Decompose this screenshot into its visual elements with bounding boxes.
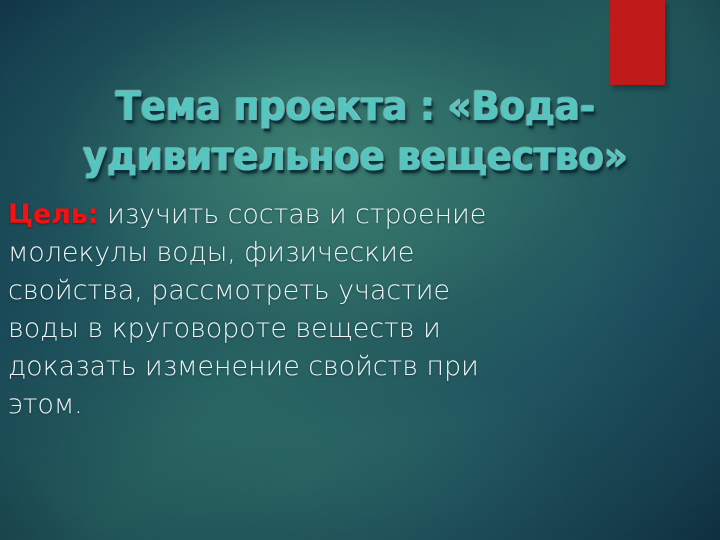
objective-line-4: воды в круговороте веществ и xyxy=(8,313,441,344)
objective-label: Цель: xyxy=(8,199,99,230)
red-accent-bar xyxy=(610,0,665,85)
presentation-slide: Тема проекта : «Вода- удивительное вещес… xyxy=(0,0,720,540)
slide-body: Цель: изучить состав и строениемолекулы … xyxy=(8,196,688,424)
objective-line-1: изучить состав и строение xyxy=(99,199,487,230)
slide-title-line-1: Тема проекта : «Вода- xyxy=(53,82,658,132)
objective-line-6: этом. xyxy=(8,389,83,420)
objective-line-5: доказать изменение свойств при xyxy=(8,351,479,382)
slide-title-line-2: удивительное вещество» xyxy=(53,132,658,182)
objective-paragraph: Цель: изучить состав и строениемолекулы … xyxy=(8,196,688,424)
objective-line-2: молекулы воды, физические xyxy=(8,237,414,268)
slide-title: Тема проекта : «Вода- удивительное вещес… xyxy=(30,82,680,182)
objective-line-3: свойства, рассмотреть участие xyxy=(8,275,450,306)
